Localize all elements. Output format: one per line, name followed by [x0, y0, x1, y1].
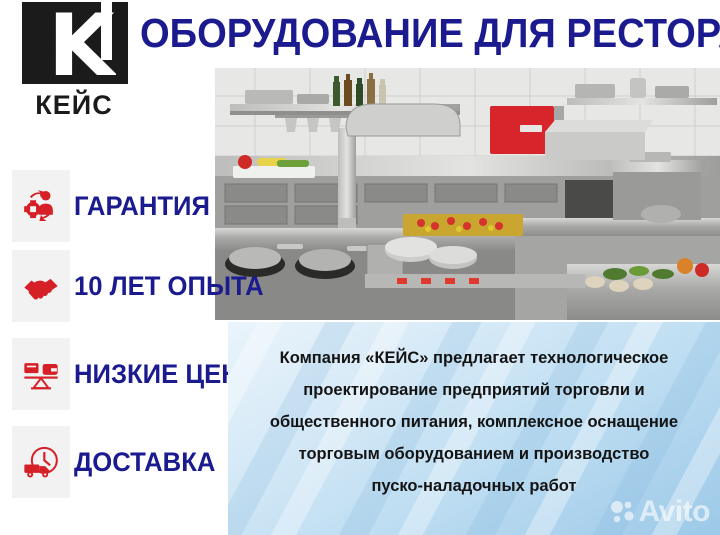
logo-wordmark: КЕЙС [14, 90, 134, 121]
description-line-2: проектирование предприятий торговли и [242, 374, 706, 406]
handshake-glyph [22, 267, 60, 305]
description-line-1: Компания «КЕЙС» предлагает технологическ… [242, 342, 706, 374]
feature-item-delivery[interactable]: ДОСТАВКА [0, 426, 215, 498]
feature-item-experience[interactable]: 10 ЛЕТ ОПЫТА [0, 250, 215, 322]
description-line-4: торговым оборудованием и производство [242, 438, 706, 470]
logo-mark: K [22, 2, 128, 84]
logo-bar-black [116, 2, 124, 84]
feature-label-experience: 10 ЛЕТ ОПЫТА [74, 271, 264, 301]
avito-watermark: Avito [609, 495, 710, 529]
feature-item-guarantee[interactable]: ГАРАНТИЯ [0, 170, 215, 242]
support-rotation-icon [12, 170, 70, 242]
feature-item-prices[interactable]: НИЗКИЕ ЦЕНЫ [0, 338, 215, 410]
kitchen-photo-illustration [215, 68, 720, 320]
company-logo: K КЕЙС [14, 2, 139, 130]
kitchen-photo [215, 68, 720, 320]
page-title: ОБОРУДОВАНИЕ ДЛЯ РЕСТОРАНОВ [140, 8, 675, 58]
feature-label-guarantee: ГАРАНТИЯ [74, 191, 210, 221]
description-line-3: общественного питания, комплексное оснащ… [242, 406, 706, 438]
feature-label-delivery: ДОСТАВКА [74, 447, 215, 477]
promo-poster: K КЕЙС ОБОРУДОВАНИЕ ДЛЯ РЕСТОРАНОВ [0, 0, 720, 535]
logo-bar-white [101, 2, 112, 60]
support-rotation-glyph [22, 187, 60, 225]
description-text: Компания «КЕЙС» предлагает технологическ… [242, 342, 706, 502]
avito-dots-icon [609, 499, 635, 525]
avito-wordmark: Avito [639, 495, 710, 529]
delivery-truck-clock-glyph [21, 442, 61, 482]
balance-scale-icon [12, 338, 70, 410]
handshake-icon [12, 250, 70, 322]
delivery-truck-clock-icon [12, 426, 70, 498]
description-panel: Компания «КЕЙС» предлагает технологическ… [228, 322, 720, 535]
balance-scale-glyph [21, 354, 61, 394]
